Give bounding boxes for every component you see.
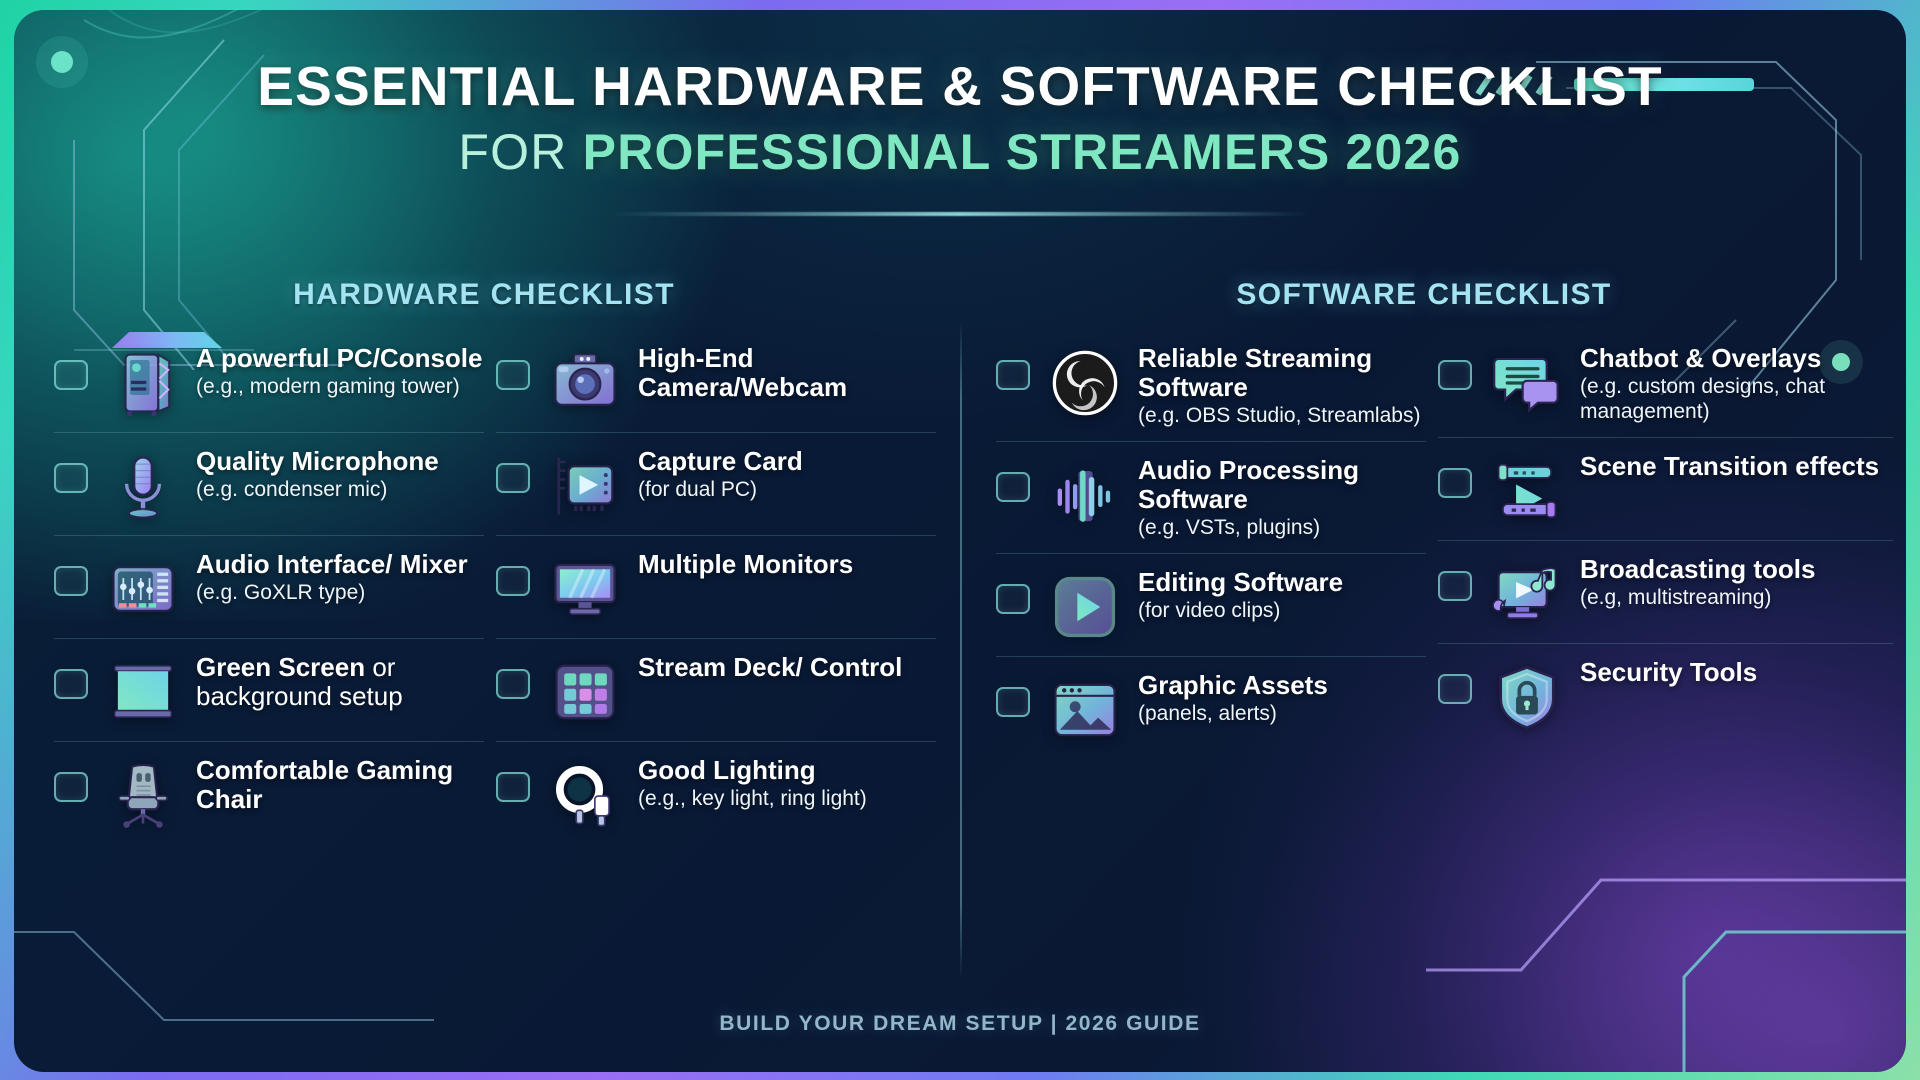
transition-icon	[1490, 454, 1564, 528]
checklist-item-text: Broadcasting tools(e.g, multistreaming)	[1580, 549, 1893, 611]
checkbox[interactable]	[996, 472, 1030, 502]
checklist-item[interactable]: Security Tools	[1438, 643, 1893, 744]
checklist-item[interactable]: Comfortable Gaming Chair	[54, 741, 484, 842]
ring-light-icon	[548, 758, 622, 832]
checklist-item[interactable]: Quality Microphone(e.g. condenser mic)	[54, 432, 484, 533]
checklist-item-subtitle: (for dual PC)	[638, 478, 936, 503]
header: ESSENTIAL HARDWARE & SOFTWARE CHECKLIST …	[14, 58, 1906, 178]
checkbox[interactable]	[996, 687, 1030, 717]
checklist-item-title: Graphic Assets	[1138, 671, 1426, 700]
audio-mixer-icon	[106, 552, 180, 626]
checklist-item-text: Audio Interface/ Mixer(e.g. GoXLR type)	[196, 544, 484, 606]
checklist-item-title: Editing Software	[1138, 568, 1426, 597]
checklist-item-title: Comfortable Gaming Chair	[196, 756, 484, 814]
checkbox[interactable]	[54, 669, 88, 699]
checklist-item[interactable]: High-End Camera/Webcam	[496, 330, 936, 430]
chat-bubbles-icon	[1490, 346, 1564, 420]
checklist-item[interactable]: Stream Deck/ Control	[496, 638, 936, 739]
infographic-canvas: ESSENTIAL HARDWARE & SOFTWARE CHECKLIST …	[0, 0, 1920, 1080]
shield-lock-icon	[1490, 660, 1564, 734]
checklist-item-text: High-End Camera/Webcam	[638, 338, 936, 402]
checklist-item[interactable]: Audio Processing Software(e.g. VSTs, plu…	[996, 441, 1426, 551]
checklist-item-text: Capture Card(for dual PC)	[638, 441, 936, 503]
checkbox[interactable]	[54, 360, 88, 390]
checklist-item-subtitle: (e.g. OBS Studio, Streamlabs)	[1138, 404, 1426, 429]
page-title-line1: ESSENTIAL HARDWARE & SOFTWARE CHECKLIST	[14, 58, 1906, 116]
checklist-item-subtitle: (e.g, multistreaming)	[1580, 586, 1893, 611]
capture-card-icon	[548, 449, 622, 523]
checkbox[interactable]	[496, 772, 530, 802]
checkbox[interactable]	[996, 360, 1030, 390]
checklist-item-title: Multiple Monitors	[638, 550, 936, 579]
page-title-for: FOR	[458, 124, 582, 180]
gaming-chair-icon	[106, 758, 180, 832]
checklist-item[interactable]: Scene Transition effects	[1438, 437, 1893, 538]
checklist-item-subtitle: (panels, alerts)	[1138, 702, 1426, 727]
section-divider	[960, 320, 962, 980]
stream-deck-icon	[548, 655, 622, 729]
checklist-item-subtitle: (e.g. custom designs, chat management)	[1580, 375, 1893, 425]
checkbox[interactable]	[54, 772, 88, 802]
checklist-item-text: Green Screen or background setup	[196, 647, 484, 711]
hardware-column-1: A powerful PC/Console(e.g., modern gamin…	[54, 330, 484, 842]
checklist-item-subtitle: (e.g., key light, ring light)	[638, 787, 936, 812]
checkbox[interactable]	[496, 360, 530, 390]
checklist-item[interactable]: Multiple Monitors	[496, 535, 936, 636]
checkbox[interactable]	[54, 463, 88, 493]
checklist-item[interactable]: Graphic Assets(panels, alerts)	[996, 656, 1426, 757]
checklist-item-title: Chatbot & Overlays	[1580, 344, 1893, 373]
checklist-item-text: Graphic Assets(panels, alerts)	[1138, 665, 1426, 727]
checklist-item-title-suffix: or background setup	[196, 652, 403, 711]
checklist-item-title: Audio Interface/ Mixer	[196, 550, 484, 579]
checklist-item[interactable]: Broadcasting tools(e.g, multistreaming)	[1438, 540, 1893, 641]
checklist-item-title: Stream Deck/ Control	[638, 653, 936, 682]
checkbox[interactable]	[496, 463, 530, 493]
checkbox[interactable]	[1438, 674, 1472, 704]
play-button-icon	[1048, 570, 1122, 644]
checklist-item-title: Quality Microphone	[196, 447, 484, 476]
checklist-item[interactable]: A powerful PC/Console(e.g., modern gamin…	[54, 330, 484, 430]
checkbox[interactable]	[996, 584, 1030, 614]
image-gallery-icon	[1048, 673, 1122, 747]
checklist-item-title: Capture Card	[638, 447, 936, 476]
checkbox[interactable]	[1438, 468, 1472, 498]
checklist-item-title: High-End Camera/Webcam	[638, 344, 936, 402]
checklist-item-subtitle: (e.g. VSTs, plugins)	[1138, 516, 1426, 541]
checkbox[interactable]	[496, 669, 530, 699]
checklist-item-title: Broadcasting tools	[1580, 555, 1893, 584]
checklist-item[interactable]: Reliable Streaming Software(e.g. OBS Stu…	[996, 330, 1426, 439]
checklist-item-title: Reliable Streaming Software	[1138, 344, 1426, 402]
checklist-item[interactable]: Editing Software(for video clips)	[996, 553, 1426, 654]
green-screen-icon	[106, 655, 180, 729]
checklist-item-text: Security Tools	[1580, 652, 1893, 687]
checklist-item-text: Editing Software(for video clips)	[1138, 562, 1426, 624]
checklist-item-text: Reliable Streaming Software(e.g. OBS Stu…	[1138, 338, 1426, 429]
checklist-item-subtitle: (e.g. GoXLR type)	[196, 581, 484, 606]
checklist-item-text: Scene Transition effects	[1580, 446, 1893, 481]
monitor-icon	[548, 552, 622, 626]
hardware-column-2: High-End Camera/Webcam Capture Card(for …	[496, 330, 936, 842]
checklist-item[interactable]: Green Screen or background setup	[54, 638, 484, 739]
software-column-2: Chatbot & Overlays(e.g. custom designs, …	[1438, 330, 1893, 744]
camera-icon	[548, 346, 622, 420]
checklist-item-text: Stream Deck/ Control	[638, 647, 936, 682]
checklist-item[interactable]: Audio Interface/ Mixer(e.g. GoXLR type)	[54, 535, 484, 636]
checklist-item-subtitle: (for video clips)	[1138, 599, 1426, 624]
checklist-item-text: Comfortable Gaming Chair	[196, 750, 484, 814]
checklist-item-title: Audio Processing Software	[1138, 456, 1426, 514]
software-column-1: Reliable Streaming Software(e.g. OBS Stu…	[996, 330, 1426, 757]
hardware-section-heading: HARDWARE CHECKLIST	[14, 278, 954, 312]
checklist-item-text: A powerful PC/Console(e.g., modern gamin…	[196, 338, 484, 400]
checklist-item-title: Green Screen or background setup	[196, 653, 484, 711]
waveform-icon	[1048, 458, 1122, 532]
title-divider	[610, 212, 1310, 216]
checkbox[interactable]	[1438, 571, 1472, 601]
checklist-item-subtitle: (e.g., modern gaming tower)	[196, 375, 484, 400]
checklist-item-title: A powerful PC/Console	[196, 344, 484, 373]
microphone-icon	[106, 449, 180, 523]
infographic-panel: ESSENTIAL HARDWARE & SOFTWARE CHECKLIST …	[14, 10, 1906, 1072]
checklist-item-text: Good Lighting(e.g., key light, ring ligh…	[638, 750, 936, 812]
checklist-item-text: Chatbot & Overlays(e.g. custom designs, …	[1580, 338, 1893, 425]
checklist-item-title: Good Lighting	[638, 756, 936, 785]
checklist-item-title: Security Tools	[1580, 658, 1893, 687]
checklist-item-subtitle: (e.g. condenser mic)	[196, 478, 484, 503]
checkbox[interactable]	[1438, 360, 1472, 390]
obs-logo-icon	[1048, 346, 1122, 420]
checkbox[interactable]	[54, 566, 88, 596]
software-section-heading: SOFTWARE CHECKLIST	[954, 278, 1894, 312]
checklist-item-text: Quality Microphone(e.g. condenser mic)	[196, 441, 484, 503]
checklist-item[interactable]: Capture Card(for dual PC)	[496, 432, 936, 533]
checklist-item-title: Scene Transition effects	[1580, 452, 1893, 481]
checklist-item[interactable]: Good Lighting(e.g., key light, ring ligh…	[496, 741, 936, 842]
broadcast-tools-icon	[1490, 557, 1564, 631]
checklist-item-text: Multiple Monitors	[638, 544, 936, 579]
page-title-highlight: PROFESSIONAL STREAMERS 2026	[583, 124, 1462, 180]
checkbox[interactable]	[496, 566, 530, 596]
checklist-item[interactable]: Chatbot & Overlays(e.g. custom designs, …	[1438, 330, 1893, 435]
checklist-item-text: Audio Processing Software(e.g. VSTs, plu…	[1138, 450, 1426, 541]
page-title-line2: FOR PROFESSIONAL STREAMERS 2026	[14, 126, 1906, 179]
pc-tower-icon	[106, 346, 180, 420]
footer-text: BUILD YOUR DREAM SETUP | 2026 GUIDE	[14, 1012, 1906, 1036]
